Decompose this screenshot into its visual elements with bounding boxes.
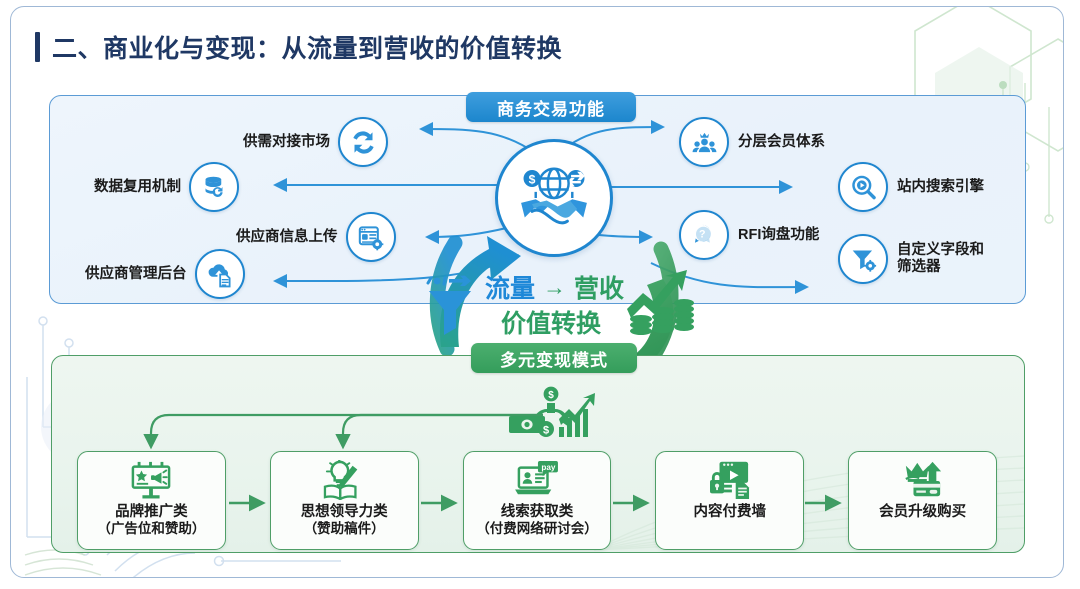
funnel-icon	[419, 273, 483, 335]
slide-frame: 二、商业化与变现：从流量到营收的价值转换 商务交易功能 $	[10, 6, 1064, 578]
svg-text:pay: pay	[541, 463, 556, 472]
card-subtitle: （赞助稿件）	[304, 521, 385, 537]
card-title: 品牌推广类	[115, 504, 188, 521]
laptop-pay-icon: pay	[514, 459, 560, 501]
node-supply-demand-market[interactable]: 供需对接市场	[243, 117, 388, 167]
node-supplier-admin-backend[interactable]: 供应商管理后台	[85, 249, 245, 299]
card-title: 思想领导力类	[301, 504, 388, 521]
card-title: 内容付费墙	[694, 504, 767, 521]
crown-card-upgrade-icon	[900, 459, 946, 501]
magnifier-play-icon	[838, 162, 888, 212]
node-tiered-membership[interactable]: 分层会员体系	[679, 117, 825, 167]
title-accent-bar	[35, 32, 40, 62]
card-subtitle: （广告位和赞助）	[97, 521, 205, 537]
revenue-label: 营收	[574, 269, 624, 305]
card-thought-leadership[interactable]: 思想领导力类 （赞助稿件）	[270, 451, 419, 550]
card-membership-upgrade[interactable]: 会员升级购买	[848, 451, 997, 550]
monetization-connectors	[51, 399, 1023, 455]
node-label: 数据复用机制	[94, 179, 181, 196]
card-brand-promotion[interactable]: 品牌推广类 （广告位和赞助）	[77, 451, 226, 550]
value-conversion-label: 流量 → 营收 价值转换	[409, 259, 699, 351]
node-label: 站内搜索引擎	[897, 179, 984, 196]
badge-monetization-modes: 多元变现模式	[471, 343, 637, 373]
cloud-upload-document-icon	[195, 249, 245, 299]
funnel-gear-icon	[838, 234, 888, 284]
node-onsite-search-engine[interactable]: 站内搜索引擎	[838, 162, 984, 212]
crown-users-icon	[679, 117, 729, 167]
node-label: RFI询盘功能	[738, 227, 819, 244]
exchange-arrows-icon	[338, 117, 388, 167]
node-label: 分层会员体系	[738, 134, 825, 151]
database-refresh-icon	[189, 162, 239, 212]
growth-coins-icon	[621, 267, 695, 337]
page-title: 二、商业化与变现：从流量到营收的价值转换	[35, 29, 562, 65]
title-text: 二、商业化与变现：从流量到营收的价值转换	[52, 29, 562, 65]
card-title: 会员升级购买	[879, 504, 966, 521]
svg-text:$: $	[529, 172, 536, 186]
node-label: 供应商信息上传	[236, 229, 338, 246]
conversion-headline: 流量 → 营收	[485, 269, 624, 305]
badge-business-transaction: 商务交易功能	[466, 92, 636, 122]
form-gear-icon	[346, 212, 396, 262]
node-supplier-info-upload[interactable]: 供应商信息上传	[236, 212, 396, 262]
arrow-glyph: →	[543, 274, 566, 301]
billboard-megaphone-icon	[128, 459, 174, 501]
lock-video-document-icon	[707, 459, 753, 501]
conversion-subline: 价值转换	[501, 304, 601, 340]
monetization-card-list: 品牌推广类 （广告位和赞助） 思想领导力类 （赞助稿件）	[77, 451, 997, 549]
bulb-book-pen-icon	[321, 459, 367, 501]
node-label: 供需对接市场	[243, 134, 330, 151]
card-content-paywall[interactable]: 内容付费墙	[655, 451, 804, 550]
node-custom-fields-filters[interactable]: 自定义字段和 筛选器	[838, 234, 984, 284]
flow-label: 流量	[485, 269, 535, 305]
node-label: 自定义字段和 筛选器	[897, 242, 984, 275]
card-lead-generation[interactable]: pay 线索获取类 （付费网络研讨会）	[463, 451, 612, 550]
card-subtitle: （付费网络研讨会）	[476, 521, 598, 537]
card-title: 线索获取类	[501, 504, 574, 521]
node-label: 供应商管理后台	[85, 266, 187, 283]
node-data-reuse[interactable]: 数据复用机制	[94, 162, 239, 212]
